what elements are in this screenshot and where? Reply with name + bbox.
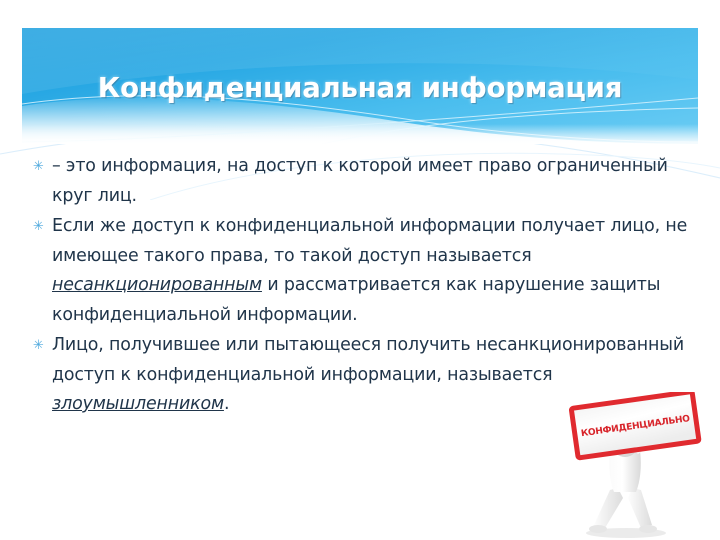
bullet-2-emphasis-term: несанкционированным [52, 275, 262, 295]
bullet-1-text: – это информация, на доступ к которой им… [52, 152, 690, 211]
presentation-slide: Конфиденциальная информация ✳ – это инфо… [0, 0, 720, 540]
asterisk-bullet-icon: ✳ [30, 152, 52, 182]
bullet-2-segment-0: Если же доступ к конфиденциальной информ… [52, 216, 687, 266]
bullet-3-segment-2: . [224, 394, 229, 414]
asterisk-bullet-icon: ✳ [30, 331, 52, 361]
confidential-sign-board: КОНФИДЕНЦИАЛЬНО [571, 392, 699, 458]
bullet-item-1: ✳ – это информация, на доступ к которой … [30, 152, 690, 211]
bullet-2-text: Если же доступ к конфиденциальной информ… [52, 212, 690, 330]
figure-legs [589, 488, 657, 533]
bullet-1-segment-0: – это информация, на доступ к которой им… [52, 156, 668, 206]
bullet-3-segment-0: Лицо, получившее или пытающееся получить… [52, 335, 684, 385]
slide-body-content: ✳ – это информация, на доступ к которой … [30, 152, 690, 421]
confidential-sign-illustration: КОНФИДЕНЦИАЛЬНО [548, 392, 720, 540]
slide-title: Конфиденциальная информация [22, 72, 698, 104]
bullet-3-emphasis-term: злоумышленником [52, 394, 224, 414]
slide-header-banner: Конфиденциальная информация [22, 28, 698, 144]
asterisk-bullet-icon: ✳ [30, 212, 52, 242]
bullet-item-2: ✳ Если же доступ к конфиденциальной инфо… [30, 212, 690, 330]
